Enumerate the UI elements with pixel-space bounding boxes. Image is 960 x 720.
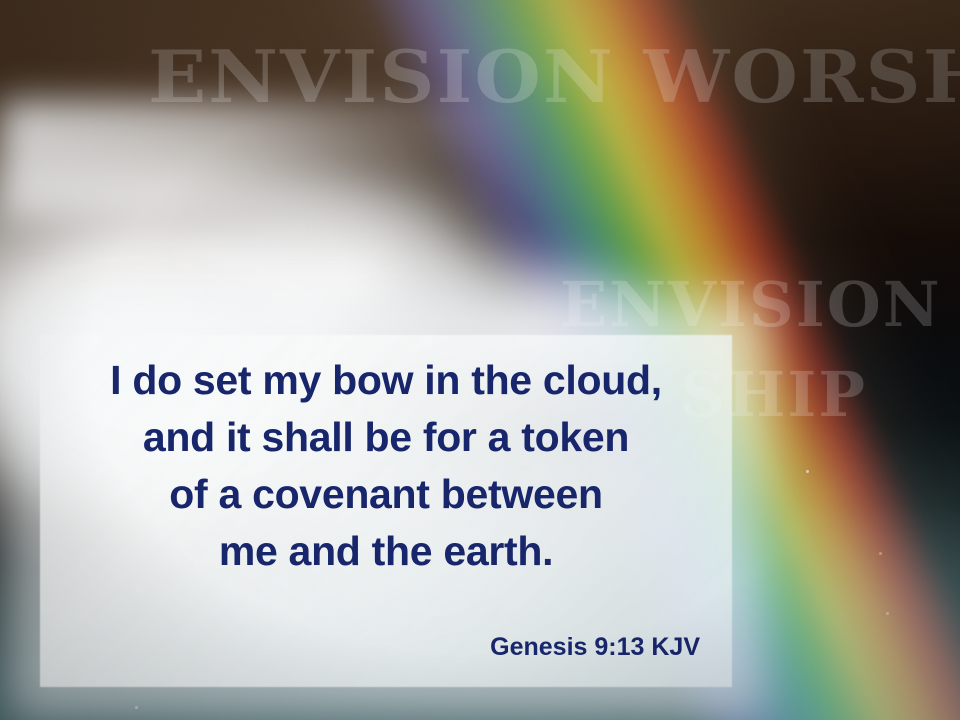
verse-text-block: I do set my bow in the cloud, and it sha…	[40, 352, 732, 580]
scripture-slide: ENVISION WORSHIP ENVISION SHIP I do set …	[0, 0, 960, 720]
verse-line-3: of a covenant between	[40, 466, 732, 523]
verse-line-4: me and the earth.	[40, 523, 732, 580]
verse-line-1: I do set my bow in the cloud,	[40, 352, 732, 409]
verse-reference: Genesis 9:13 KJV	[40, 633, 700, 662]
verse-line-2: and it shall be for a token	[40, 409, 732, 466]
